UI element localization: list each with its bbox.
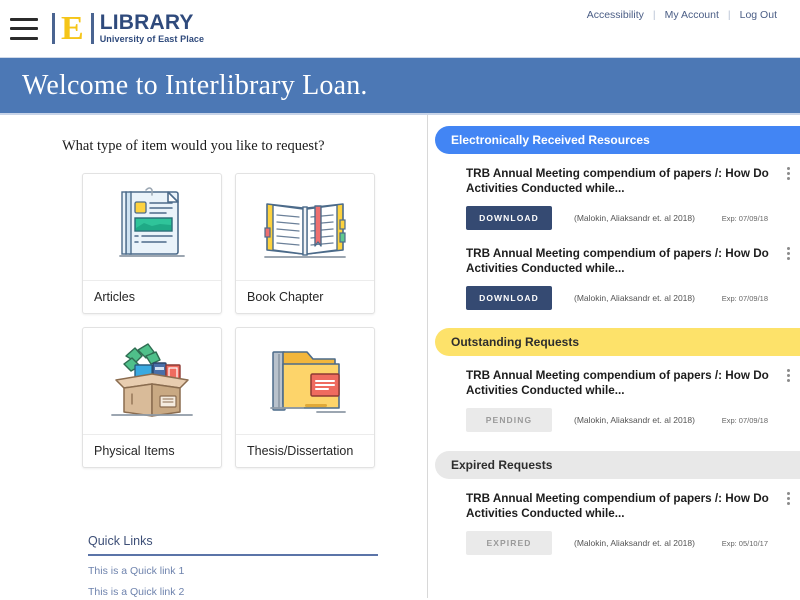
item-type-card-physical-items[interactable]: Physical Items	[82, 327, 222, 468]
download-button[interactable]: DOWNLOAD	[466, 206, 552, 230]
section-header-outstanding-requests: Outstanding Requests	[435, 328, 800, 356]
nav-link-log-out[interactable]: Log Out	[731, 9, 786, 21]
item-type-label: Book Chapter	[236, 280, 374, 313]
resource-title: TRB Annual Meeting compendium of papers …	[466, 368, 772, 398]
quick-links-title: Quick Links	[88, 534, 378, 556]
resource-item: TRB Annual Meeting compendium of papers …	[428, 356, 800, 436]
resource-title: TRB Annual Meeting compendium of papers …	[466, 166, 772, 196]
resource-action-row: DOWNLOAD (Malokin, Aliaksandr et. al 201…	[466, 196, 772, 230]
resource-expiry: Exp: 05/10/17	[722, 539, 772, 548]
kebab-menu-icon[interactable]	[787, 247, 790, 260]
requests-sidebar: Electronically Received Resources TRB An…	[428, 115, 800, 598]
nav-link-accessibility[interactable]: Accessibility	[578, 9, 653, 21]
quick-link-1[interactable]: This is a Quick link 1	[88, 556, 378, 577]
logo-title: LIBRARY	[100, 13, 204, 33]
top-nav: Accessibility | My Account | Log Out	[578, 9, 786, 21]
hamburger-bar	[10, 37, 38, 40]
expired-status-button: EXPIRED	[466, 531, 552, 555]
open-book-icon	[236, 174, 374, 280]
logo-wordmark: LIBRARY University of East Place	[94, 13, 204, 45]
hamburger-icon[interactable]	[10, 18, 38, 40]
resource-title: TRB Annual Meeting compendium of papers …	[466, 491, 772, 521]
resource-citation: (Malokin, Aliaksandr et. al 2018)	[552, 538, 695, 548]
item-type-grid: Articles	[0, 155, 427, 468]
resource-item: TRB Annual Meeting compendium of papers …	[428, 154, 800, 234]
hero-banner: Welcome to Interlibrary Loan.	[0, 57, 800, 115]
logo-letter: E	[55, 13, 91, 44]
section-header-expired-requests: Expired Requests	[435, 451, 800, 479]
item-type-card-articles[interactable]: Articles	[82, 173, 222, 314]
hamburger-bar	[10, 27, 38, 30]
page-title: Welcome to Interlibrary Loan.	[0, 70, 368, 102]
quick-links: Quick Links This is a Quick link 1 This …	[88, 534, 378, 598]
kebab-menu-icon[interactable]	[787, 492, 790, 505]
item-type-card-thesis-dissertation[interactable]: Thesis/Dissertation	[235, 327, 375, 468]
resource-action-row: PENDING (Malokin, Aliaksandr et. al 2018…	[466, 398, 772, 432]
resource-action-row: EXPIRED (Malokin, Aliaksandr et. al 2018…	[466, 521, 772, 555]
folder-icon	[236, 328, 374, 434]
nav-link-my-account[interactable]: My Account	[656, 9, 728, 21]
item-type-label: Thesis/Dissertation	[236, 434, 374, 467]
site-logo[interactable]: E LIBRARY University of East Place	[52, 13, 204, 45]
section-header-electronically-received: Electronically Received Resources	[435, 126, 800, 154]
resource-title: TRB Annual Meeting compendium of papers …	[466, 246, 772, 276]
request-prompt: What type of item would you like to requ…	[0, 115, 427, 155]
resource-item: TRB Annual Meeting compendium of papers …	[428, 234, 800, 314]
pending-status-button: PENDING	[466, 408, 552, 432]
request-panel: What type of item would you like to requ…	[0, 115, 428, 598]
resource-expiry: Exp: 07/09/18	[722, 294, 772, 303]
resource-action-row: DOWNLOAD (Malokin, Aliaksandr et. al 201…	[466, 276, 772, 310]
kebab-menu-icon[interactable]	[787, 369, 790, 382]
shipping-box-icon	[83, 328, 221, 434]
body-split: What type of item would you like to requ…	[0, 115, 800, 598]
kebab-menu-icon[interactable]	[787, 167, 790, 180]
item-type-label: Articles	[83, 280, 221, 313]
resource-citation: (Malokin, Aliaksandr et. al 2018)	[552, 213, 695, 223]
resource-citation: (Malokin, Aliaksandr et. al 2018)	[552, 415, 695, 425]
document-icon	[83, 174, 221, 280]
resource-citation: (Malokin, Aliaksandr et. al 2018)	[552, 293, 695, 303]
top-bar: E LIBRARY University of East Place Acces…	[0, 0, 800, 57]
quick-link-2[interactable]: This is a Quick link 2	[88, 577, 378, 598]
resource-item: TRB Annual Meeting compendium of papers …	[428, 479, 800, 559]
resource-expiry: Exp: 07/09/18	[722, 214, 772, 223]
logo-subtitle: University of East Place	[100, 33, 204, 45]
download-button[interactable]: DOWNLOAD	[466, 286, 552, 310]
hamburger-bar	[10, 18, 38, 21]
item-type-card-book-chapter[interactable]: Book Chapter	[235, 173, 375, 314]
resource-expiry: Exp: 07/09/18	[722, 416, 772, 425]
item-type-label: Physical Items	[83, 434, 221, 467]
page-root: E LIBRARY University of East Place Acces…	[0, 0, 800, 600]
